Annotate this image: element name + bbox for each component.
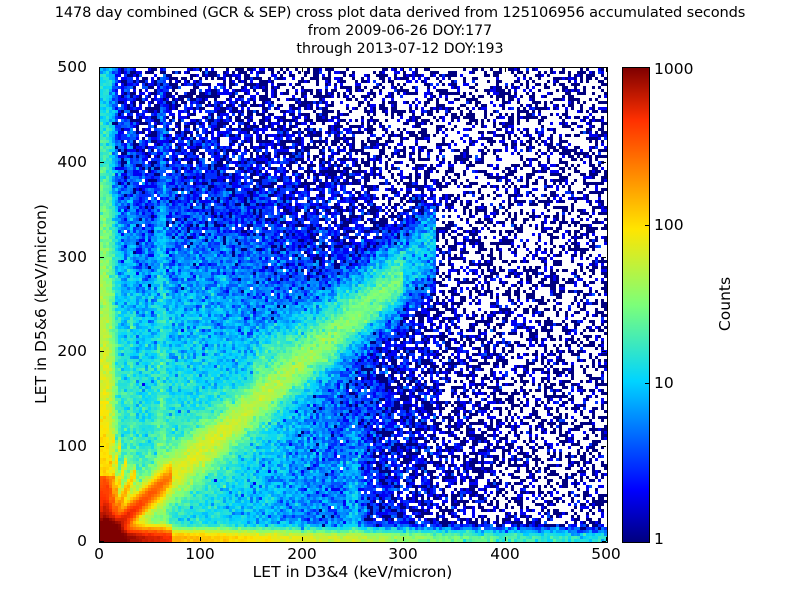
x-ticklabel-200: 200 <box>287 545 317 563</box>
y-tick-300 <box>100 257 104 258</box>
figure-canvas: 1478 day combined (GCR & SEP) cross plot… <box>0 0 800 600</box>
y-ticklabel-300: 300 <box>57 248 87 266</box>
y-tick-500 <box>100 67 104 68</box>
x-tick-top-300 <box>403 68 404 72</box>
y-axis-label: LET in D5&6 (keV/micron) <box>32 67 50 541</box>
x-ticklabel-500: 500 <box>591 545 621 563</box>
y-tick-right-500 <box>602 67 606 68</box>
colorbar-tick-10 <box>645 383 649 384</box>
y-ticklabel-100: 100 <box>57 437 87 455</box>
colorbar-ticklabel-10: 10 <box>654 374 674 392</box>
colorbar-tick-100 <box>645 225 649 226</box>
plot-title: 1478 day combined (GCR & SEP) cross plot… <box>0 4 800 58</box>
x-axis-label: LET in D3&4 (keV/micron) <box>99 563 606 581</box>
y-tick-right-300 <box>602 257 606 258</box>
x-ticklabel-400: 400 <box>490 545 520 563</box>
x-ticklabel-0: 0 <box>94 545 104 563</box>
colorbar-ticklabel-1000: 1000 <box>654 60 693 78</box>
colorbar-gradient <box>623 68 649 542</box>
y-tick-200 <box>100 351 104 352</box>
y-tick-0 <box>100 541 104 542</box>
colorbar-label: Counts <box>716 67 734 541</box>
x-tick-400 <box>505 537 506 541</box>
y-tick-100 <box>100 446 104 447</box>
x-tick-top-200 <box>302 68 303 72</box>
x-tick-top-500 <box>606 68 607 72</box>
y-tick-right-200 <box>602 351 606 352</box>
x-tick-200 <box>302 537 303 541</box>
x-ticklabel-100: 100 <box>185 545 215 563</box>
y-ticklabel-0: 0 <box>77 532 87 550</box>
y-tick-right-100 <box>602 446 606 447</box>
x-tick-top-0 <box>99 68 100 72</box>
x-tick-500 <box>606 537 607 541</box>
colorbar[interactable] <box>622 67 650 543</box>
density-data-layer <box>100 68 607 542</box>
y-ticklabel-400: 400 <box>57 153 87 171</box>
x-tick-top-400 <box>505 68 506 72</box>
scatter-density-plot[interactable] <box>99 67 608 543</box>
y-ticklabel-200: 200 <box>57 342 87 360</box>
y-tick-right-0 <box>602 541 606 542</box>
plot-title-line-3: through 2013-07-12 DOY:193 <box>0 40 800 58</box>
x-tick-300 <box>403 537 404 541</box>
y-tick-right-400 <box>602 162 606 163</box>
x-tick-100 <box>200 537 201 541</box>
y-tick-400 <box>100 162 104 163</box>
x-ticklabel-300: 300 <box>388 545 418 563</box>
plot-title-line-1: 1478 day combined (GCR & SEP) cross plot… <box>0 4 800 22</box>
x-tick-top-100 <box>200 68 201 72</box>
colorbar-ticklabel-100: 100 <box>654 216 684 234</box>
plot-title-line-2: from 2009-06-26 DOY:177 <box>0 22 800 40</box>
y-ticklabel-500: 500 <box>57 58 87 76</box>
colorbar-ticklabel-1: 1 <box>654 530 664 548</box>
